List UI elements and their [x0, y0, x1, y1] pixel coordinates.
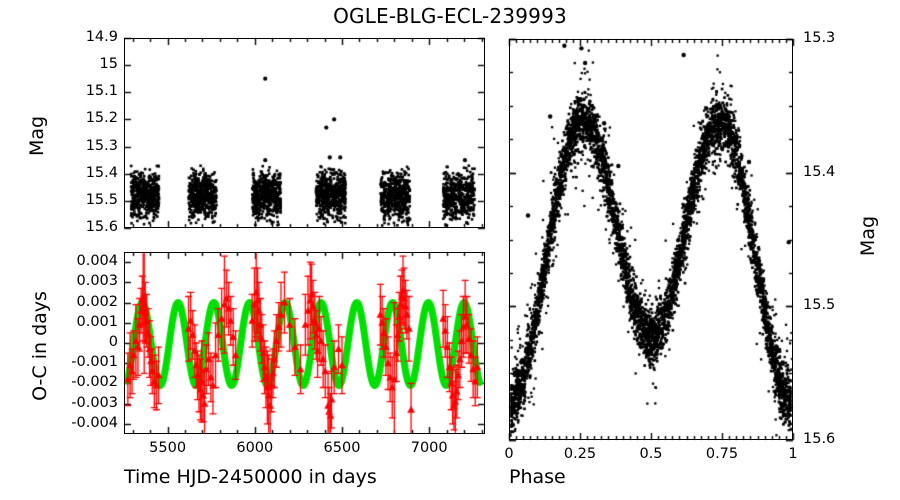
oc-xtick-5500: 5500: [128, 440, 208, 456]
phase-xtick-2: 0.5: [611, 446, 691, 462]
oc-xtick-7000: 7000: [389, 440, 469, 456]
plot-figure: OGLE-BLG-ECL-239993 Mag O-C in days Time…: [0, 0, 900, 500]
lightcurve-ytick-15: 15: [50, 56, 118, 72]
phase-xtick-1: 0.25: [540, 446, 620, 462]
lightcurve-ytick-15.4: 15.4: [50, 165, 118, 181]
oc-ytick-5: -0.001: [48, 354, 118, 370]
oc-ytick-6: -0.002: [48, 374, 118, 390]
lightcurve-ytick-15.2: 15.2: [50, 110, 118, 126]
lightcurve-ytick-15.3: 15.3: [50, 138, 118, 154]
oc-ytick-7: -0.003: [48, 395, 118, 411]
phase-ytick-1: 15.4: [803, 164, 859, 180]
lightcurve-ytick-15.5: 15.5: [50, 192, 118, 208]
phase-ytick-2: 15.5: [803, 297, 859, 313]
oc-ytick-2: 0.002: [48, 294, 118, 310]
oc-ytick-8: -0.004: [48, 415, 118, 431]
phase-xtick-3: 0.75: [682, 446, 762, 462]
phase-ytick-3: 15.6: [803, 431, 859, 447]
oc-xtick-6500: 6500: [302, 440, 382, 456]
lightcurve-ytick-14.9: 14.9: [50, 29, 118, 45]
phase-xtick-4: 1: [753, 446, 833, 462]
phase-ytick-0: 15.3: [803, 30, 859, 46]
oc-ytick-1: 0.003: [48, 273, 118, 289]
oc-xtick-6000: 6000: [215, 440, 295, 456]
phase-folded-canvas: [0, 0, 900, 500]
oc-ytick-0: 0.004: [48, 253, 118, 269]
phase-x-axis-label: Phase: [509, 466, 793, 488]
phase-y-axis-label: Mag: [857, 206, 879, 266]
oc-ytick-3: 0.001: [48, 314, 118, 330]
lightcurve-ytick-15.1: 15.1: [50, 83, 118, 99]
phase-xtick-0: 0: [469, 446, 549, 462]
oc-ytick-4: 0: [48, 334, 118, 350]
lightcurve-ytick-15.6: 15.6: [50, 219, 118, 235]
